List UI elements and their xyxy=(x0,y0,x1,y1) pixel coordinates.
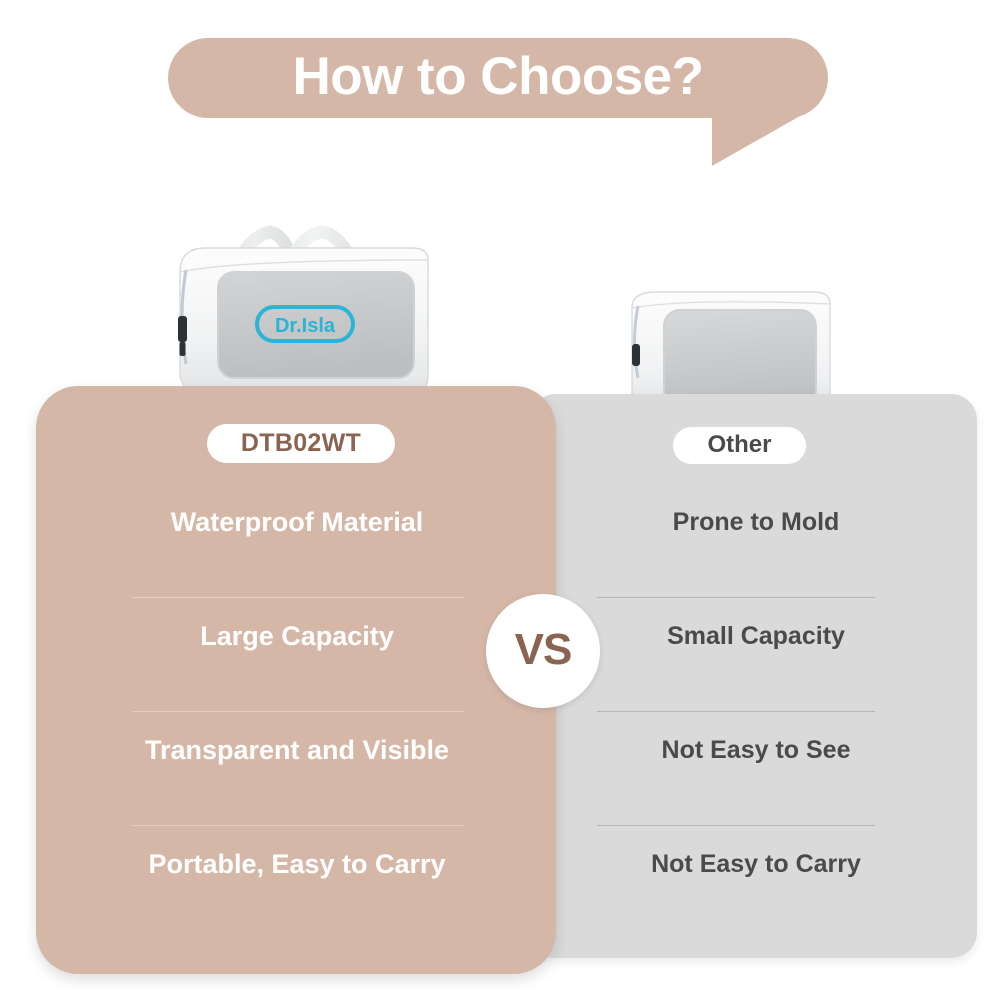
list-item: Not Easy to See xyxy=(556,712,956,826)
product-feature-list: Waterproof Material Large Capacity Trans… xyxy=(64,484,530,940)
zipper-pull xyxy=(632,344,640,366)
list-item: Waterproof Material xyxy=(64,484,530,598)
product-bag-image: Dr.Isla xyxy=(160,140,440,410)
header-speech-bubble: How to Choose? xyxy=(168,38,828,118)
feature-label: Small Capacity xyxy=(556,598,956,674)
list-item: Small Capacity xyxy=(556,598,956,712)
list-item: Large Capacity xyxy=(64,598,530,712)
speech-bubble-tail xyxy=(712,116,800,166)
list-item: Prone to Mold xyxy=(556,484,956,598)
list-item: Transparent and Visible xyxy=(64,712,530,826)
versus-badge: VS xyxy=(486,594,600,708)
feature-label: Large Capacity xyxy=(64,598,530,674)
product-name-badge: DTB02WT xyxy=(207,424,395,463)
feature-label: Waterproof Material xyxy=(64,484,530,560)
svg-text:Dr.Isla: Dr.Isla xyxy=(275,315,336,337)
list-item: Portable, Easy to Carry xyxy=(64,826,530,940)
list-item: Not Easy to Carry xyxy=(556,826,956,940)
other-feature-list: Prone to Mold Small Capacity Not Easy to… xyxy=(556,484,956,940)
feature-label: Not Easy to Carry xyxy=(556,826,956,902)
other-name-badge: Other xyxy=(673,427,806,464)
versus-label: VS xyxy=(486,594,600,708)
zipper-pull xyxy=(178,316,187,342)
feature-label: Not Easy to See xyxy=(556,712,956,788)
feature-label: Transparent and Visible xyxy=(64,712,530,788)
feature-label: Portable, Easy to Carry xyxy=(64,826,530,902)
page-title: How to Choose? xyxy=(168,38,828,118)
feature-label: Prone to Mold xyxy=(556,484,956,560)
